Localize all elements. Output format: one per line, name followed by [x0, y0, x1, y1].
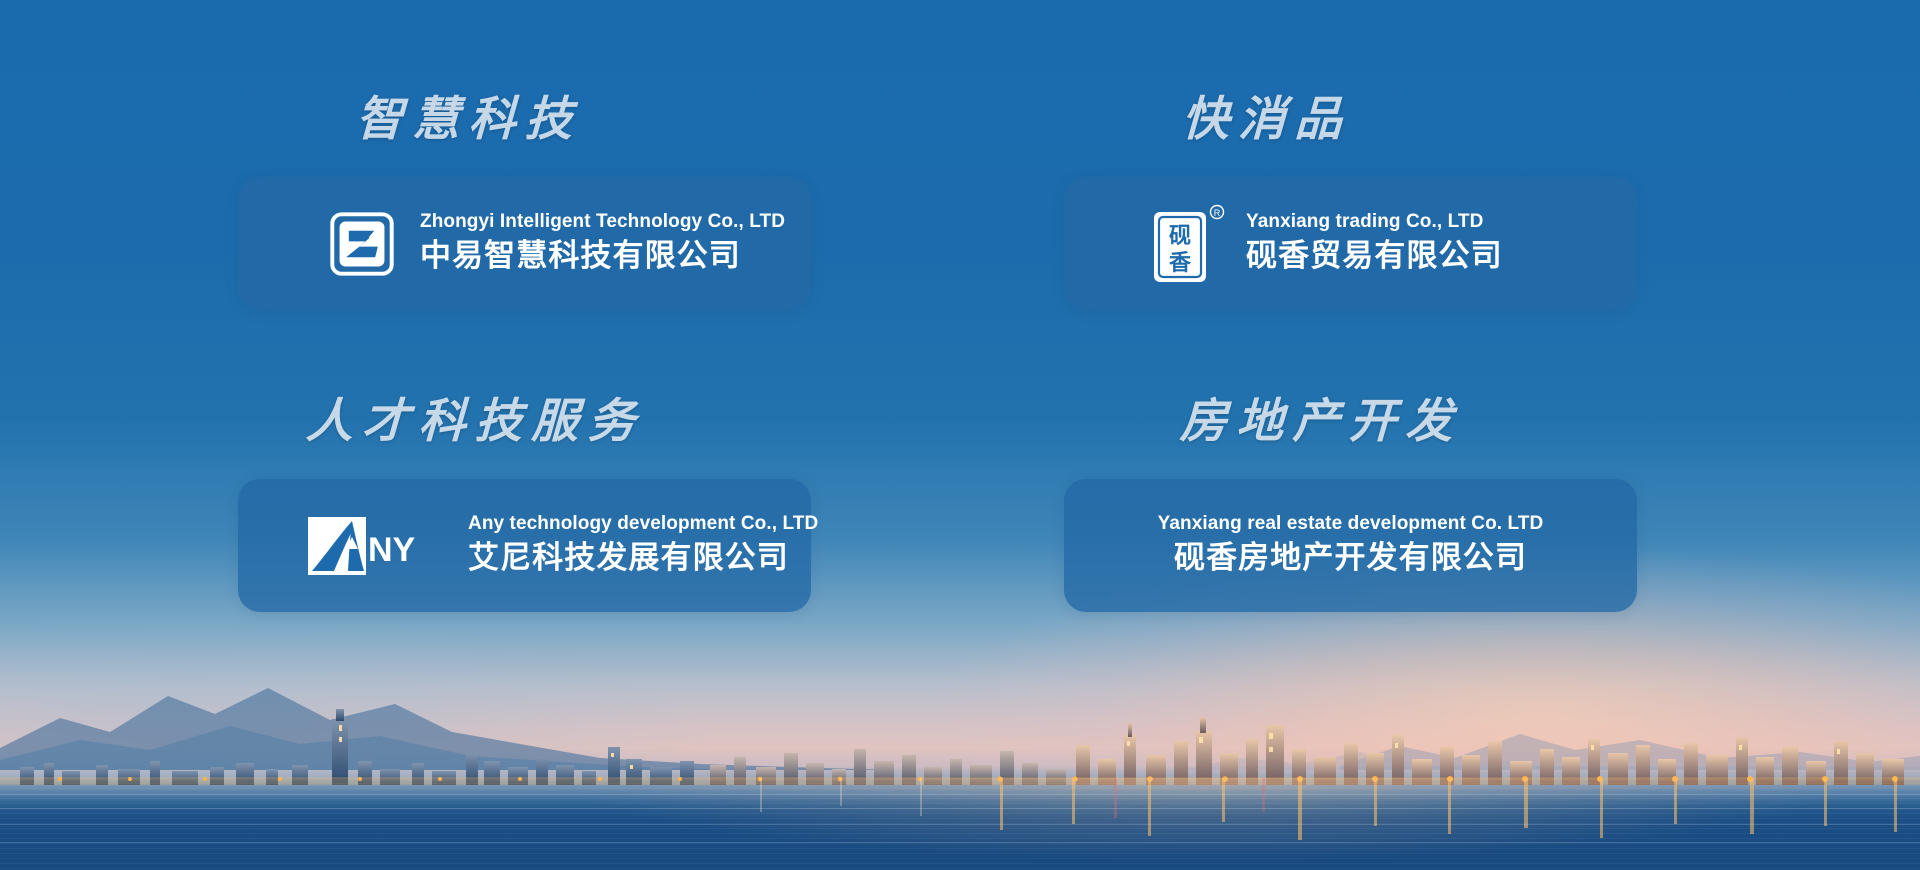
segment-real-estate: 房地产开发 Yanxiang real estate development C… — [1064, 398, 1844, 612]
company-name-cn-zhongyi: 中易智慧科技有限公司 — [420, 236, 785, 276]
company-text-yanxiang-realestate: Yanxiang real estate development Co. LTD… — [1158, 512, 1544, 578]
zhongyi-z-mark-icon — [320, 202, 404, 286]
zhongyi-z-mark-svg — [329, 211, 395, 277]
any-mountain-mark-icon: NY — [308, 504, 458, 588]
segment-talent-services: 人才科技服务 NY Any technology development Co.… — [238, 398, 1018, 612]
company-name-cn-yanxiang-trading: 砚香贸易有限公司 — [1246, 236, 1503, 276]
company-card-yanxiang-trading[interactable]: 砚 香 R Yanxiang trading Co., LTD 砚香贸易有限公司 — [1064, 177, 1637, 310]
segment-fmcg: 快消品 砚 香 R Yanxiang trading Co., LTD 砚香贸易… — [1064, 96, 1844, 310]
segment-title-real-estate: 房地产开发 — [1063, 398, 1845, 445]
company-name-en-yanxiang-realestate: Yanxiang real estate development Co. LTD — [1158, 512, 1544, 536]
company-text-zhongyi: Zhongyi Intelligent Technology Co., LTD … — [420, 210, 785, 276]
company-name-cn-yanxiang-realestate: 砚香房地产开发有限公司 — [1174, 538, 1527, 578]
segments-grid: 智慧科技 Zhongyi Intelligent Technology Co.,… — [0, 0, 1920, 870]
yanxiang-seal-mark-icon: 砚 香 R — [1146, 202, 1230, 286]
segment-title-talent-services: 人才科技服务 — [237, 398, 1019, 445]
company-name-en-zhongyi: Zhongyi Intelligent Technology Co., LTD — [420, 210, 785, 234]
yanxiang-seal-mark-svg: 砚 香 R — [1148, 202, 1228, 286]
company-card-any[interactable]: NY Any technology development Co., LTD 艾… — [238, 479, 811, 612]
any-mountain-mark-svg: NY — [308, 515, 458, 577]
segment-title-smart-technology: 智慧科技 — [237, 96, 1019, 143]
segment-title-fmcg: 快消品 — [1015, 96, 1845, 143]
company-name-en-any: Any technology development Co., LTD — [468, 512, 818, 536]
svg-text:砚: 砚 — [1169, 224, 1191, 249]
svg-text:R: R — [1214, 208, 1221, 218]
segment-smart-technology: 智慧科技 Zhongyi Intelligent Technology Co.,… — [238, 96, 1018, 310]
svg-text:NY: NY — [368, 531, 416, 569]
company-card-yanxiang-realestate[interactable]: Yanxiang real estate development Co. LTD… — [1064, 479, 1637, 612]
company-name-en-yanxiang-trading: Yanxiang trading Co., LTD — [1246, 210, 1503, 234]
svg-text:香: 香 — [1169, 251, 1191, 276]
company-text-yanxiang-trading: Yanxiang trading Co., LTD 砚香贸易有限公司 — [1246, 210, 1503, 276]
company-text-any: Any technology development Co., LTD 艾尼科技… — [468, 512, 818, 578]
company-card-zhongyi[interactable]: Zhongyi Intelligent Technology Co., LTD … — [238, 177, 811, 310]
banner-stage: 智慧科技 Zhongyi Intelligent Technology Co.,… — [0, 0, 1920, 870]
company-name-cn-any: 艾尼科技发展有限公司 — [468, 538, 818, 578]
